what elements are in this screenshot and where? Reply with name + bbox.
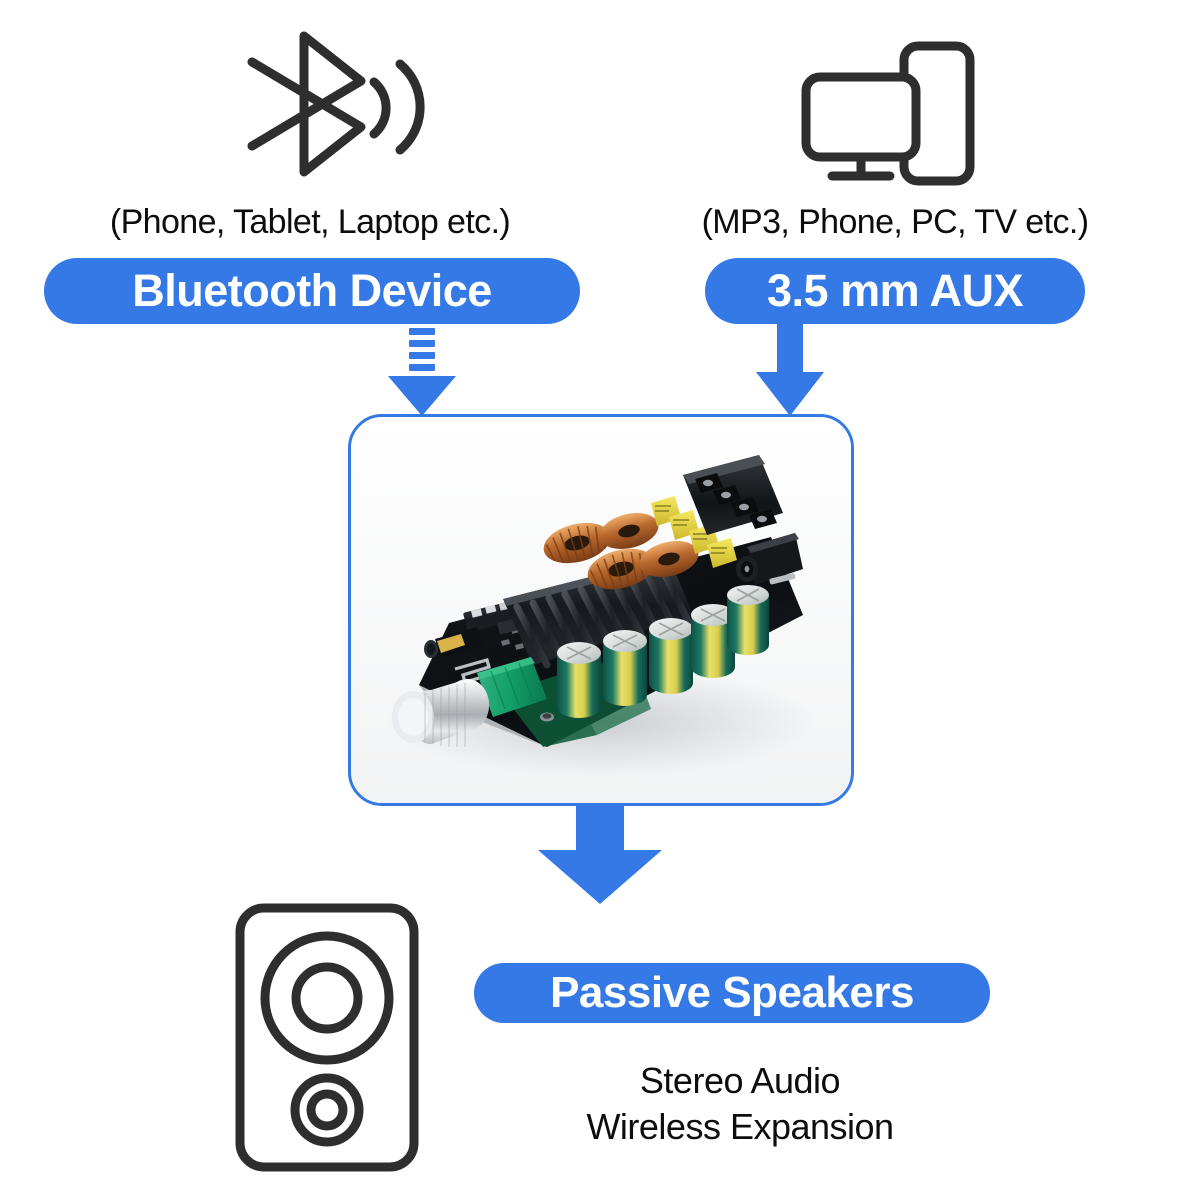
bluetooth-source-caption: (Phone, Tablet, Laptop etc.) [0, 203, 620, 242]
infographic-canvas: (Phone, Tablet, Laptop etc.) (MP3, Phone… [0, 0, 1200, 1200]
badge-bluetooth-device[interactable]: Bluetooth Device [44, 258, 580, 324]
footer-line-wireless-expansion: Wireless Expansion [440, 1104, 1040, 1150]
output-solid-arrow [520, 804, 680, 906]
output-footer: Stereo Audio Wireless Expansion [440, 1058, 1040, 1150]
bluetooth-icon [228, 14, 443, 194]
aux-source-caption: (MP3, Phone, PC, TV etc.) [595, 203, 1195, 242]
footer-line-stereo-audio: Stereo Audio [440, 1058, 1040, 1104]
wired-solid-arrow [742, 322, 838, 418]
wireless-dashed-arrow [372, 326, 472, 418]
passive-speaker-icon [232, 900, 422, 1175]
monitor-tablet-icon [790, 36, 1000, 194]
badge-passive-speakers[interactable]: Passive Speakers [474, 963, 990, 1023]
badge-aux[interactable]: 3.5 mm AUX [705, 258, 1085, 324]
amplifier-board-photo [348, 414, 854, 806]
